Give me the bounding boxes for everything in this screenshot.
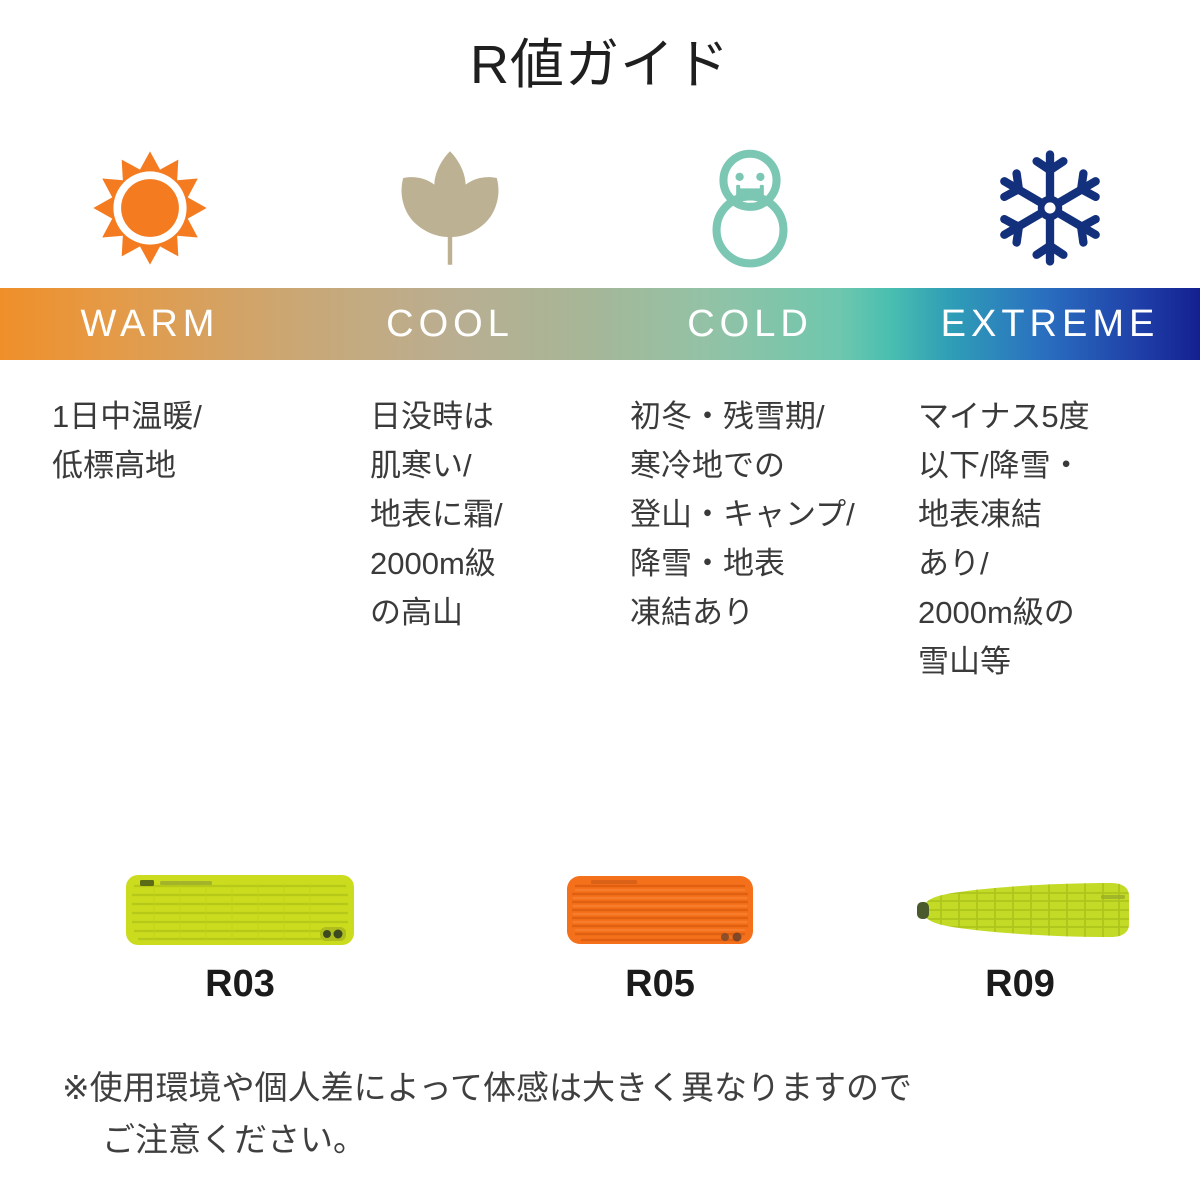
description-line: 降雪・地表 (630, 539, 896, 588)
footnote-line-1: ※使用環境や個人差によって体感は大きく異なりますので (62, 1062, 1138, 1114)
description-column-cold: 初冬・残雪期/ 寒冷地での 登山・キャンプ/ 降雪・地表 凍結あり (600, 392, 900, 686)
r-tick: 9.0 (960, 790, 1080, 832)
category-label-cool: COOL (386, 303, 514, 346)
description-line: 地表に霜/ (370, 490, 596, 539)
icon-cell-cool (300, 140, 600, 275)
description-line: 肌寒い/ (370, 441, 596, 490)
r-tick: 7.0 (720, 790, 840, 832)
category-cell-cold: COLD (600, 288, 900, 360)
description-line: あり/ (918, 539, 1196, 588)
description-line: マイナス5度 (918, 392, 1196, 441)
product-r03: R03 (0, 862, 480, 1022)
description-line: 凍結あり (630, 588, 896, 637)
description-line: 以下/降雪・ (918, 441, 1196, 490)
snowflake-icon (994, 149, 1106, 267)
description-row: 1日中温暖/ 低標高地 日没時は 肌寒い/ 地表に霜/ 2000m級 の高山 初… (0, 392, 1200, 686)
r-value-scale-bar: R1.0 2.0 3.0 4.0 5.0 6.0 7.0 8.0 9.0 10.… (0, 772, 1200, 850)
icon-cell-cold (600, 140, 900, 275)
product-image-r09 (905, 862, 1135, 957)
r-tick: 3.0 (240, 790, 360, 832)
category-gradient-bar: WARM COOL COLD EXTREME (0, 288, 1200, 360)
product-image-r03 (124, 862, 356, 957)
r-tick: 6.0 (600, 790, 720, 832)
description-line: 登山・キャンプ/ (630, 490, 896, 539)
r-tick: 2.0 (120, 790, 240, 832)
product-label-r09: R09 (985, 965, 1055, 1003)
category-label-cold: COLD (687, 303, 813, 346)
description-line: 地表凍結 (918, 490, 1196, 539)
snowman-icon (700, 148, 800, 268)
description-column-warm: 1日中温暖/ 低標高地 (0, 392, 300, 686)
r-value-guide-infographic: R値ガイド (0, 0, 1200, 1200)
leaf-icon (394, 149, 506, 267)
footnote-line-2: ご注意ください。 (62, 1114, 1138, 1166)
description-line: の高山 (370, 588, 596, 637)
product-row: R03 (0, 862, 1200, 1022)
product-r09: R09 (840, 862, 1200, 1022)
category-label-extreme: EXTREME (941, 303, 1160, 346)
description-line: 低標高地 (52, 441, 296, 490)
description-line: 初冬・残雪期/ (630, 392, 896, 441)
category-cell-cool: COOL (300, 288, 600, 360)
category-label-warm: WARM (81, 303, 220, 346)
category-cell-extreme: EXTREME (900, 288, 1200, 360)
product-label-r03: R03 (205, 965, 275, 1003)
icon-cell-warm (0, 140, 300, 275)
r-tick: 4.0 (360, 790, 480, 832)
r-tick: 10.0 (1080, 790, 1200, 832)
r-tick: 8.0 (840, 790, 960, 832)
icon-row (0, 140, 1200, 275)
description-line: 2000m級 (370, 539, 596, 588)
product-r05: R05 (480, 862, 840, 1022)
description-line: 日没時は (370, 392, 596, 441)
description-line: 1日中温暖/ (52, 392, 296, 441)
category-cell-warm: WARM (0, 288, 300, 360)
footnote: ※使用環境や個人差によって体感は大きく異なりますので ご注意ください。 (0, 1062, 1200, 1166)
description-column-extreme: マイナス5度 以下/降雪・ 地表凍結 あり/ 2000m級の 雪山等 (900, 392, 1200, 686)
product-label-r05: R05 (625, 965, 695, 1003)
r-tick: 5.0 (480, 790, 600, 832)
sun-icon (91, 149, 209, 267)
page-title: R値ガイド (0, 36, 1200, 95)
description-line: 2000m級の (918, 588, 1196, 637)
description-line: 寒冷地での (630, 441, 896, 490)
product-image-r05 (565, 862, 755, 957)
description-column-cool: 日没時は 肌寒い/ 地表に霜/ 2000m級 の高山 (300, 392, 600, 686)
r-tick: R1.0 (0, 790, 120, 832)
description-line: 雪山等 (918, 637, 1196, 686)
icon-cell-extreme (900, 140, 1200, 275)
